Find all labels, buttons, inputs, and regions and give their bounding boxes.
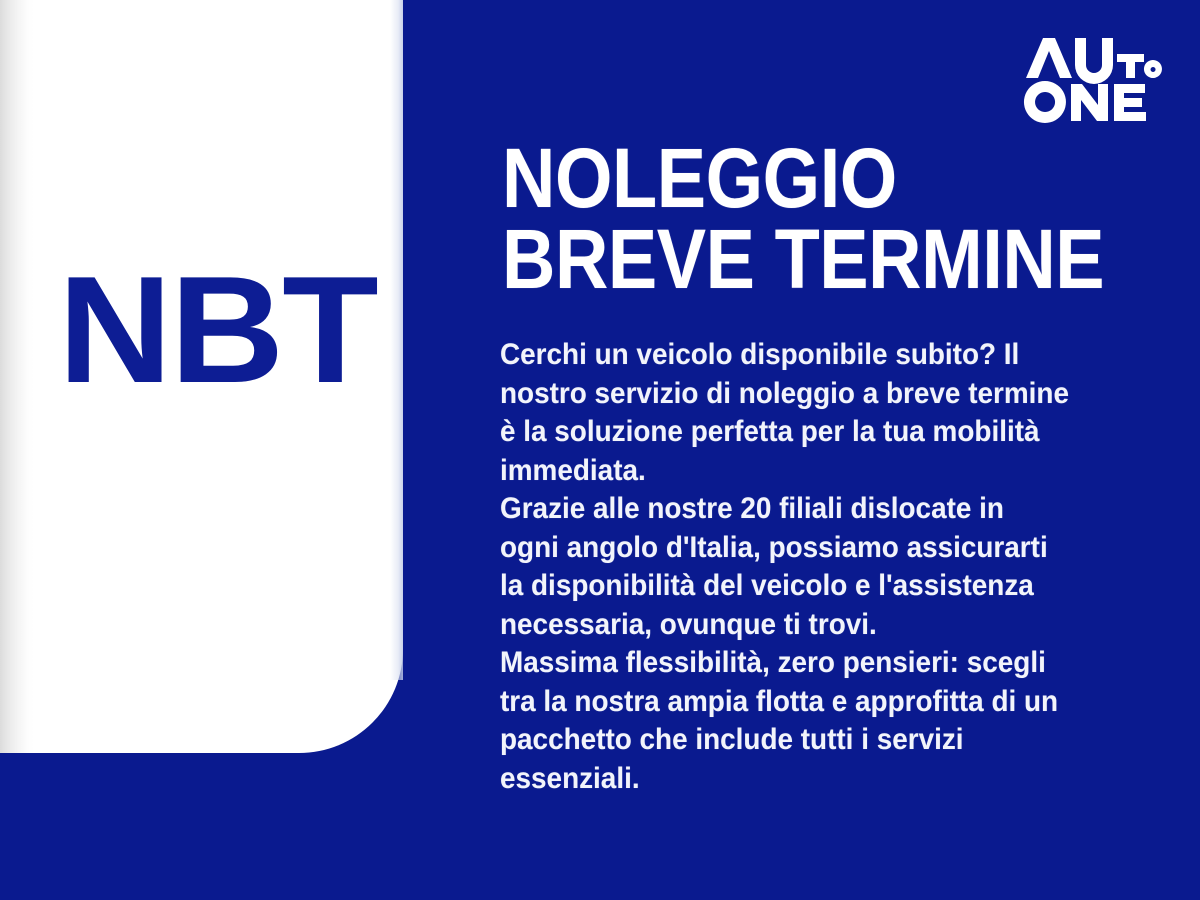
logo-letter-e — [1114, 84, 1146, 121]
headline-line-2: BREVE TERMINE — [502, 219, 1083, 300]
logo-letter-a — [1026, 38, 1072, 78]
paragraph-1: Cerchi un veicolo disponibile subito? Il… — [500, 336, 1132, 490]
page-title: NOLEGGIO BREVE TERMINE — [502, 138, 1083, 301]
headline-line-1: NOLEGGIO — [502, 138, 1083, 219]
nbt-monogram: NBT — [58, 254, 377, 406]
logo-letter-u — [1075, 38, 1113, 84]
promo-poster: NBT NOLEGGIO BREVE TERMIN — [0, 0, 1200, 900]
paragraph-1-line-3: è la soluzione perfetta per la tua mobil… — [500, 413, 1132, 452]
logo-letter-o-large — [1024, 81, 1066, 123]
paragraph-3: Massima flessibilità, zero pensieri: sce… — [500, 644, 1132, 798]
paragraph-2-line-3: la disponibilità del veicolo e l'assiste… — [500, 567, 1132, 606]
panel-inner-seam — [390, 0, 403, 680]
logo-letter-t-small — [1117, 54, 1144, 78]
paragraph-1-line-1: Cerchi un veicolo disponibile subito? Il — [500, 336, 1132, 375]
autoone-logo — [1022, 32, 1162, 124]
paragraph-2-line-1: Grazie alle nostre 20 filiali dislocate … — [500, 490, 1132, 529]
paragraph-3-line-2: tra la nostra ampia flotta e approfitta … — [500, 683, 1132, 722]
paragraph-2-line-4: necessaria, ovunque ti trovi. — [500, 606, 1132, 645]
paragraph-1-line-2: nostro servizio di noleggio a breve term… — [500, 375, 1132, 414]
logo-letter-n — [1071, 84, 1108, 121]
paragraph-2-line-2: ogni angolo d'Italia, possiamo assicurar… — [500, 529, 1132, 568]
logo-letter-o-small — [1144, 60, 1162, 78]
paragraph-3-line-4: essenziali. — [500, 760, 1132, 799]
autoone-logo-mark — [1022, 32, 1162, 124]
paragraph-3-line-3: pacchetto che include tutti i servizi — [500, 721, 1132, 760]
paragraph-3-line-1: Massima flessibilità, zero pensieri: sce… — [500, 644, 1132, 683]
body-copy: Cerchi un veicolo disponibile subito? Il… — [500, 336, 1132, 798]
paragraph-1-line-4: immediata. — [500, 452, 1132, 491]
panel-edge-shadow — [0, 0, 34, 753]
paragraph-2: Grazie alle nostre 20 filiali dislocate … — [500, 490, 1132, 644]
